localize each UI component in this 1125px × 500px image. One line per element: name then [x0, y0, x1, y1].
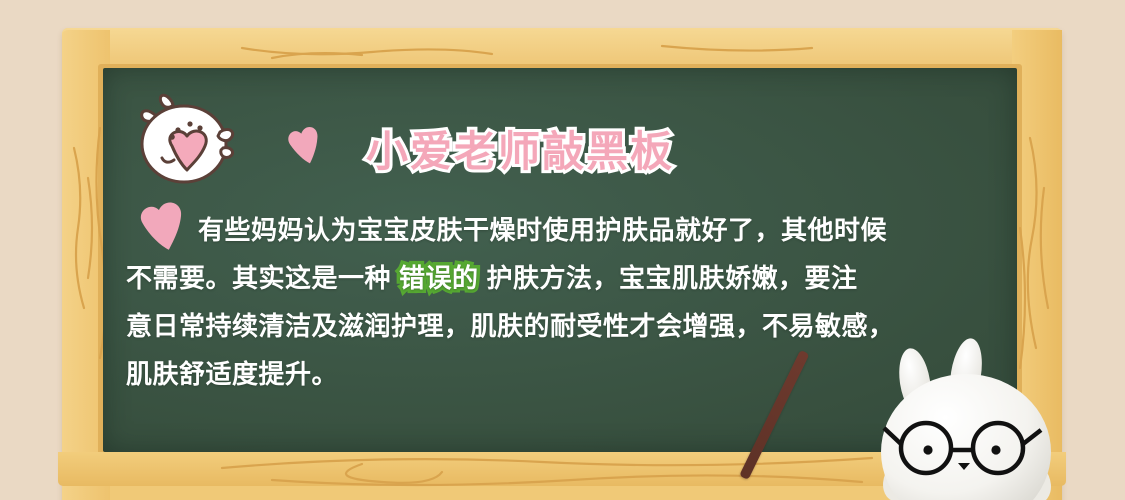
highlighted-phrase: 错误的	[395, 254, 483, 302]
body-line-1: 有些妈妈认为宝宝皮肤干燥时使用护肤品就好了，其他时候	[126, 206, 986, 254]
heart-icon	[282, 122, 328, 168]
poster-canvas: 小爱老师敲黑板 有些妈妈认为宝宝皮肤干燥时使用护肤品就好了，其他时候 不需要。其…	[0, 0, 1125, 500]
bunny-hugging-heart-mascot	[128, 86, 242, 192]
body-line-2-after: 护肤方法，宝宝肌肤娇嫩，要注	[487, 263, 858, 293]
page-title: 小爱老师敲黑板	[366, 118, 674, 179]
body-line-2-before: 不需要。其实这是一种	[126, 263, 391, 293]
body-line-2: 不需要。其实这是一种错误的护肤方法，宝宝肌肤娇嫩，要注	[126, 254, 986, 302]
rabbit-teacher-with-glasses	[838, 330, 1124, 500]
